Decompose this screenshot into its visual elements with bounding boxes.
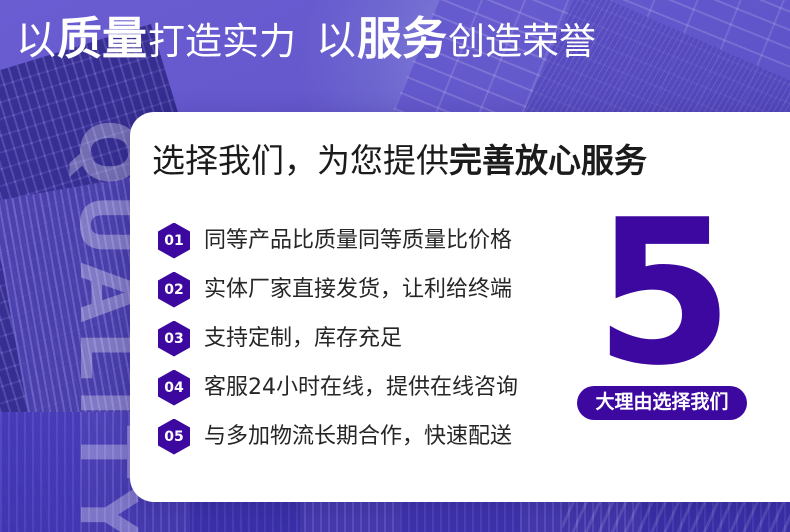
card-title-bold: 完善放心服务 xyxy=(449,141,647,180)
list-item: 02 实体厂家直接发货，让利给终端 xyxy=(158,265,578,314)
list-item: 04 客服24小时在线，提供在线咨询 xyxy=(158,363,578,412)
hexagon-badge-icon: 03 xyxy=(158,321,190,357)
badge-number: 04 xyxy=(164,381,183,395)
list-item: 01 同等产品比质量同等质量比价格 xyxy=(158,216,578,265)
feature-text: 实体厂家直接发货，让利给终端 xyxy=(204,279,512,301)
highlight-number: 5 xyxy=(562,212,762,376)
badge-number: 03 xyxy=(164,332,183,346)
feature-text: 同等产品比质量同等质量比价格 xyxy=(204,230,512,252)
badge-number: 01 xyxy=(164,234,183,248)
hexagon-badge-icon: 05 xyxy=(158,419,190,455)
headline-part-1-light: 以 xyxy=(16,21,56,61)
headline-part-2-regular: 创造荣誉 xyxy=(448,23,596,60)
feature-text: 客服24小时在线，提供在线咨询 xyxy=(204,377,518,399)
highlight-block: 5 大理由选择我们 xyxy=(562,212,762,420)
hexagon-badge-icon: 01 xyxy=(158,223,190,259)
headline-part-2-light: 以 xyxy=(316,21,356,61)
feature-text: 与多加物流长期合作，快速配送 xyxy=(204,426,512,448)
headline-part-2-strong: 服务 xyxy=(357,16,447,61)
feature-text: 支持定制，库存充足 xyxy=(204,328,402,350)
card-title-regular: 选择我们，为您提供 xyxy=(152,141,449,180)
highlight-pill-label: 大理由选择我们 xyxy=(577,386,746,420)
headline-part-1-regular: 打造实力 xyxy=(148,23,296,60)
feature-list: 01 同等产品比质量同等质量比价格 02 实体厂家直接发货，让利给终端 03 支… xyxy=(158,216,578,461)
badge-number: 05 xyxy=(164,430,183,444)
list-item: 03 支持定制，库存充足 xyxy=(158,314,578,363)
headline-part-1-strong: 质量 xyxy=(57,16,147,61)
content-card: 选择我们，为您提供完善放心服务 01 同等产品比质量同等质量比价格 02 实体厂… xyxy=(130,112,790,502)
list-item: 05 与多加物流长期合作，快速配送 xyxy=(158,412,578,461)
hexagon-badge-icon: 02 xyxy=(158,272,190,308)
promo-banner: QUALITY 以 质量 打造实力 以 服务 创造荣誉 选择我们，为您提供完善放… xyxy=(0,0,790,532)
card-title: 选择我们，为您提供完善放心服务 xyxy=(152,144,647,177)
badge-number: 02 xyxy=(164,283,183,297)
headline: 以 质量 打造实力 以 服务 创造荣誉 xyxy=(16,16,596,61)
hexagon-badge-icon: 04 xyxy=(158,370,190,406)
